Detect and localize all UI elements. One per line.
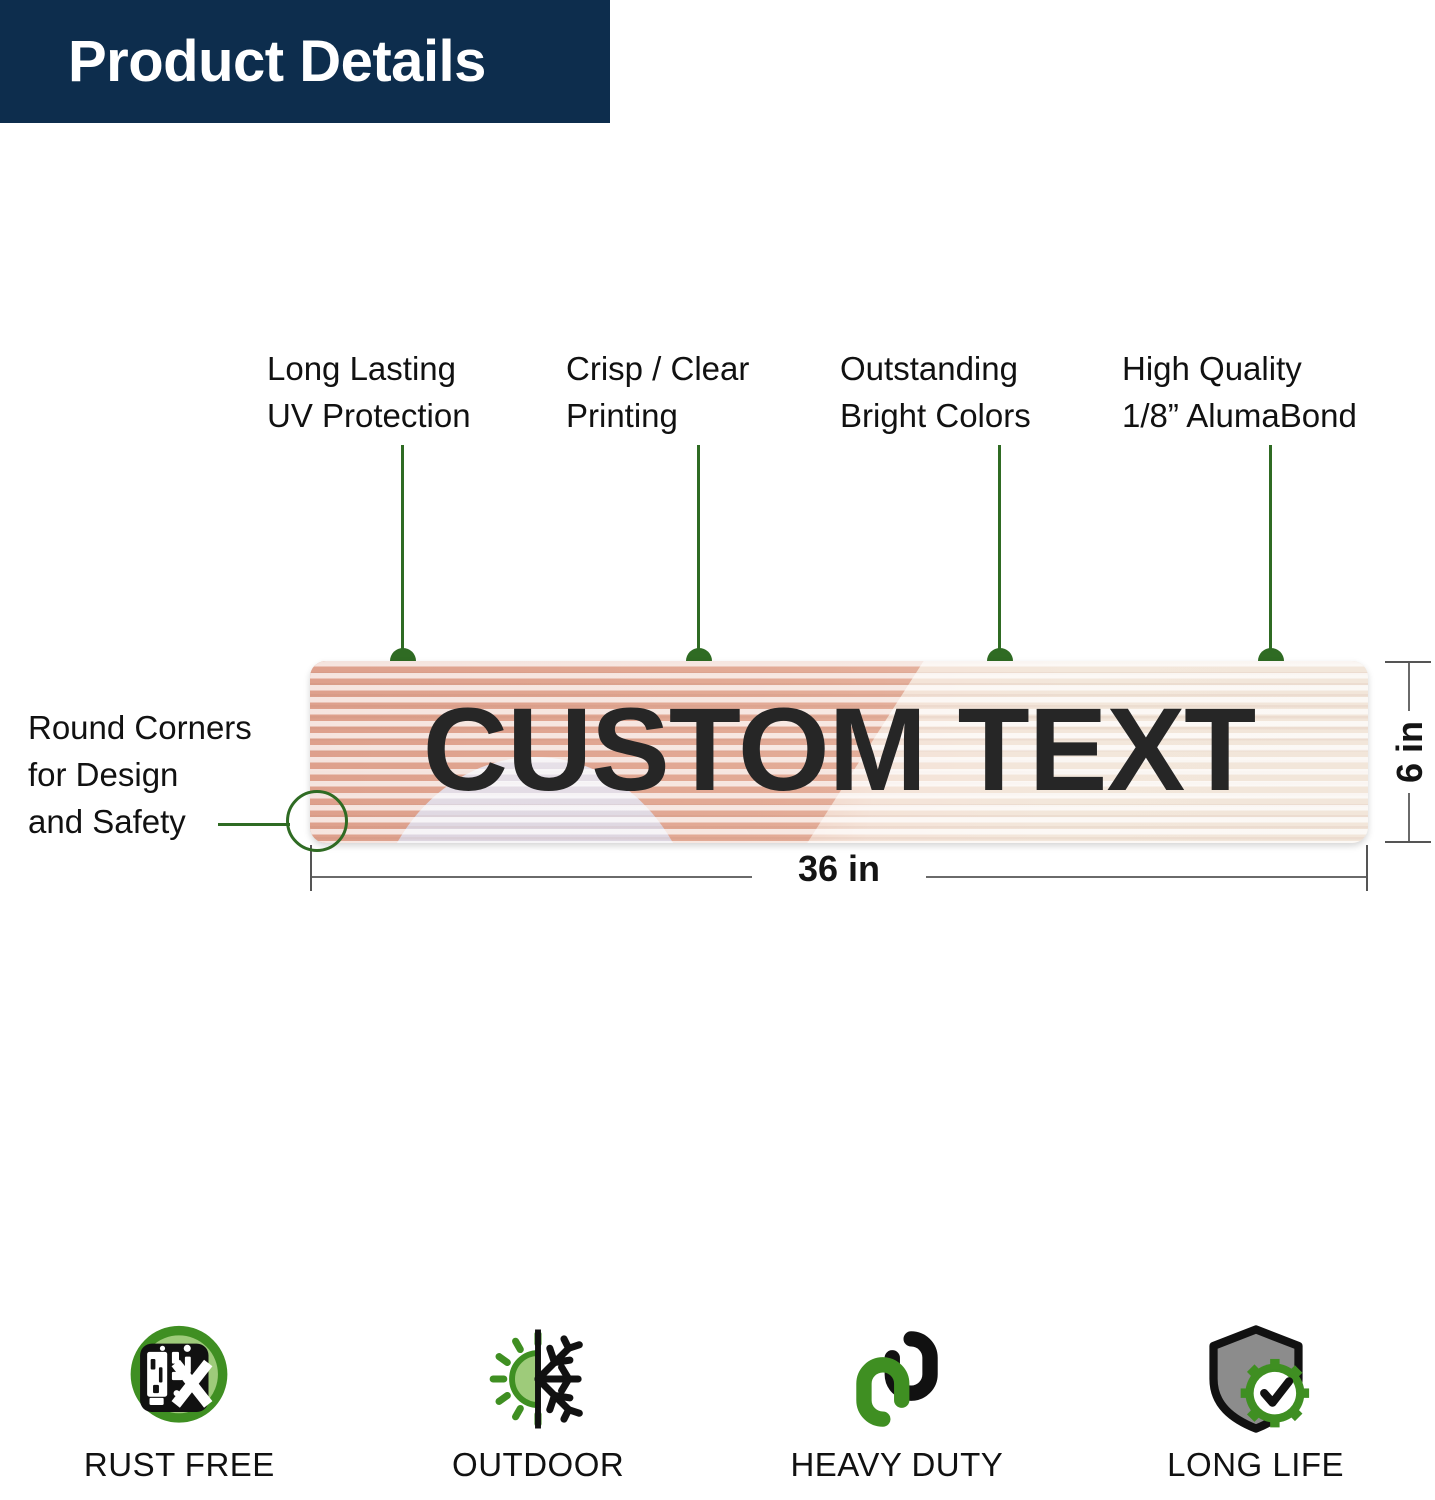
feature-badge-strip: RUST FREE (0, 1320, 1435, 1500)
dimension-width-label: 36 in (310, 851, 1368, 887)
feature-outdoor: OUTDOOR (359, 1320, 718, 1484)
feature-label-long-life: LONG LIFE (1167, 1446, 1344, 1484)
shield-clock-icon (1197, 1320, 1315, 1438)
feature-label-heavy-duty: HEAVY DUTY (790, 1446, 1003, 1484)
sign-custom-text: CUSTOM TEXT (310, 661, 1368, 843)
page-title: Product Details (68, 33, 486, 91)
leader-line-round-corners (218, 823, 290, 826)
sun-snowflake-icon (479, 1320, 597, 1438)
rust-free-icon (120, 1320, 238, 1438)
circle-ring-icon (286, 790, 348, 852)
chain-link-icon (838, 1320, 956, 1438)
callout-label-printing: Crisp / Clear Printing (566, 346, 749, 440)
dimension-tick-bottom (1385, 841, 1431, 843)
leader-line-alumabond (1269, 445, 1272, 663)
leader-line-bright-colors (998, 445, 1001, 663)
leader-line-uv-protection (401, 445, 404, 663)
feature-rust-free: RUST FREE (0, 1320, 359, 1484)
feature-label-outdoor: OUTDOOR (452, 1446, 624, 1484)
infographic-canvas: Product Details Long Lasting UV Protecti… (0, 0, 1435, 1500)
callout-label-bright-colors: Outstanding Bright Colors (840, 346, 1031, 440)
feature-label-rust-free: RUST FREE (84, 1446, 275, 1484)
leader-line-printing (697, 445, 700, 663)
feature-long-life: LONG LIFE (1076, 1320, 1435, 1484)
dimension-width: 36 in (310, 845, 1368, 905)
feature-heavy-duty: HEAVY DUTY (718, 1320, 1077, 1484)
dimension-height: 6 in (1385, 661, 1435, 843)
header-banner: Product Details (0, 0, 610, 123)
callout-label-uv-protection: Long Lasting UV Protection (267, 346, 471, 440)
callout-label-alumabond: High Quality 1/8” AlumaBond (1122, 346, 1357, 440)
sign-product-preview: CUSTOM TEXT (310, 661, 1368, 843)
